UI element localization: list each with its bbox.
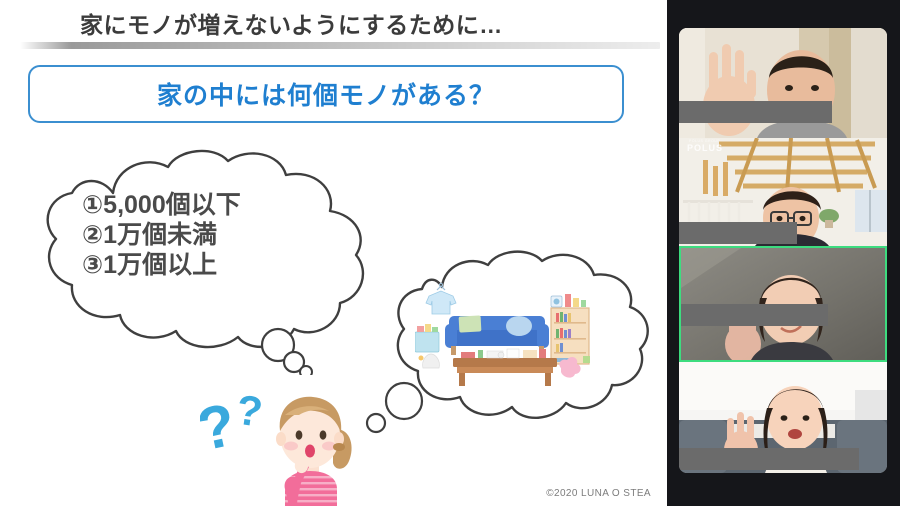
- question-text: 家の中には何個モノがある？: [157, 76, 495, 112]
- video-tile-participant-4[interactable]: [679, 362, 887, 473]
- confused-woman-illustration: [255, 385, 365, 506]
- floor-bag-icon: [423, 354, 440, 368]
- participant-name-redaction-2: [679, 222, 797, 244]
- option-item-2: ②1万個未満: [82, 220, 342, 250]
- participant-name-redaction-4: [679, 448, 859, 470]
- video-tile-participant-1[interactable]: [679, 28, 887, 138]
- toy-box-icon: [415, 324, 439, 361]
- coffee-table-icon: [453, 349, 557, 386]
- video-conference-panel: POLUS GROUP POLUS: [667, 0, 900, 506]
- option-item-1: ①5,000個以下: [82, 190, 342, 220]
- participant-name-redaction-1: [679, 101, 832, 123]
- title-divider-rule: [20, 42, 660, 49]
- copyright-text: ©2020 LUNA O STEA: [546, 488, 651, 499]
- slide-title: 家にモノが増えないようにするために…: [80, 6, 503, 40]
- video-tile-participant-3-active[interactable]: [679, 246, 887, 362]
- option-item-3: ③1万個以上: [82, 250, 342, 280]
- polus-watermark: POLUS: [687, 143, 723, 153]
- video-tile-participant-2[interactable]: POLUS GROUP POLUS: [679, 138, 887, 246]
- cluttered-room-illustration: [415, 280, 590, 390]
- answer-options-list: ①5,000個以下 ②1万個未満 ③1万個以上: [82, 190, 342, 280]
- sofa-icon: [445, 315, 549, 355]
- question-box: 家の中には何個モノがある？: [28, 65, 624, 123]
- hanging-shirt-icon: [426, 283, 456, 314]
- slide-with-video-stage: 家にモノが増えないようにするために… 家の中には何個モノがある？ ①5,000個…: [0, 0, 900, 506]
- participant-name-redaction-3: [681, 304, 828, 326]
- presentation-slide: 家にモノが増えないようにするために… 家の中には何個モノがある？ ①5,000個…: [0, 0, 667, 506]
- bookshelf-icon: [551, 294, 589, 364]
